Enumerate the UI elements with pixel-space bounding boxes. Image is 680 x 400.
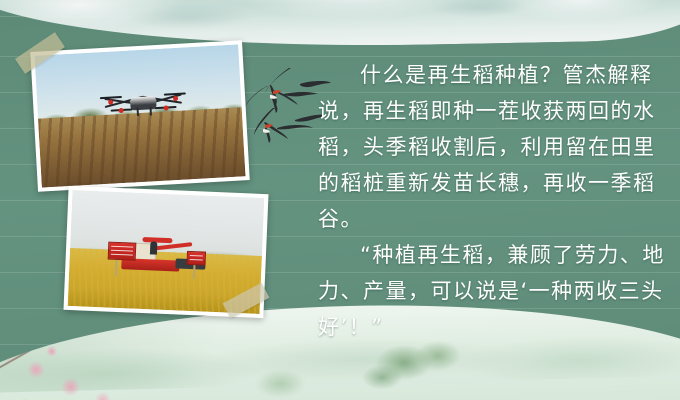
photo-drone-image	[34, 44, 245, 187]
photo-drone-over-field[interactable]	[30, 40, 249, 192]
landscape-tree-far	[240, 356, 331, 400]
cherry-blossom-branch	[0, 336, 181, 400]
article-paragraph-2: “种植再生稻，兼顾了劳力、地力、产量，可以说是‘一种两收三头好’！”	[318, 237, 670, 345]
field-signboard	[108, 242, 137, 261]
tilled-field	[38, 108, 246, 188]
article-text: 什么是再生稻种植？管杰解释说，再生稻即种一茬收获两回的水稻，头季稻收割后，利用留…	[318, 57, 670, 345]
drone-icon	[100, 88, 187, 119]
article-paragraph-1: 什么是再生稻种植？管杰解释说，再生稻即种一茬收获两回的水稻，头季稻收割后，利用留…	[318, 57, 670, 237]
poster-canvas: 什么是再生稻种植？管杰解释说，再生稻即种一茬收获两回的水稻，头季稻收割后，利用留…	[0, 0, 680, 400]
field-signboard	[186, 251, 206, 266]
